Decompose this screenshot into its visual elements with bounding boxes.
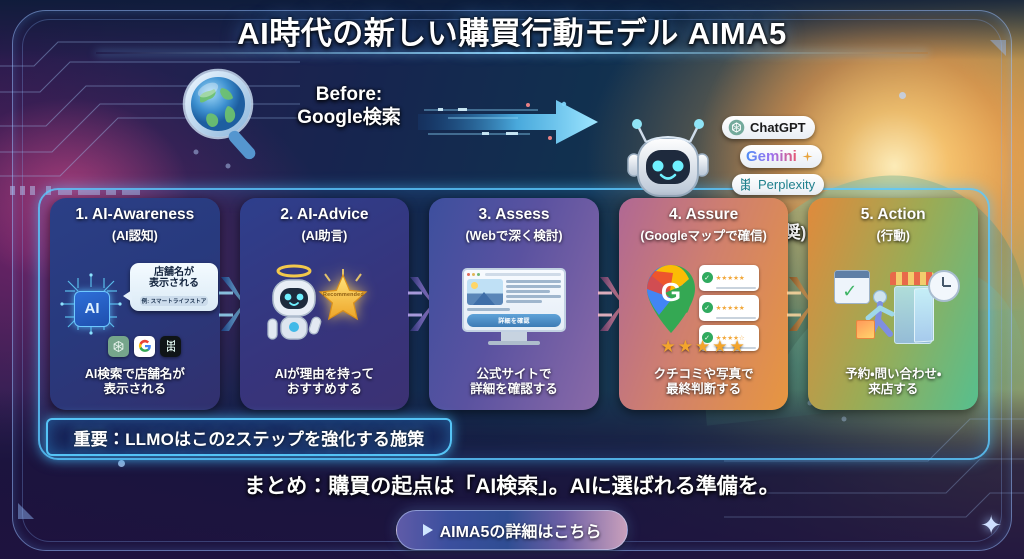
step-3-caption-line1: 公式サイトで bbox=[470, 367, 558, 383]
ai-chip-label: AI bbox=[74, 291, 110, 327]
speech-line-2: 表示される bbox=[133, 278, 215, 290]
arrow-4-to-5 bbox=[788, 198, 808, 410]
footer-section: まとめ：購買の起点は「AI検索」。AIに選ばれる準備を。 AIMA5の詳細はこち… bbox=[0, 470, 1024, 550]
desktop-monitor-icon: 詳細を確認 bbox=[462, 268, 566, 345]
step-5-art: ✓ bbox=[814, 246, 972, 366]
step-3-art: 詳細を確認 bbox=[435, 246, 593, 366]
bubble-chatgpt-label: ChatGPT bbox=[750, 120, 806, 135]
step-card-2[interactable]: 2. AI-Advice (AI助言) bbox=[240, 198, 410, 410]
review-stars: ★★★★★ bbox=[716, 305, 745, 312]
before-label-line2: Google検索 bbox=[284, 106, 414, 129]
step-5-caption-line2: 来店する bbox=[845, 382, 941, 398]
chatgpt-icon bbox=[108, 336, 129, 357]
review-item: ✓ ★★★★★ bbox=[699, 265, 759, 291]
arrow-1-to-2 bbox=[220, 198, 240, 410]
step-3-subtitle: (Webで深く検討) bbox=[466, 225, 563, 244]
step-card-3[interactable]: 3. Assess (Webで深く検討) bbox=[429, 198, 599, 410]
step-4-subtitle: (Googleマップで確信) bbox=[640, 225, 766, 244]
monitor-base bbox=[488, 341, 540, 345]
step-2-caption-line2: おすすめする bbox=[275, 382, 374, 398]
bubble-perplexity: Perplexity bbox=[732, 174, 824, 195]
review-item: ✓ ★★★★★ bbox=[699, 295, 759, 321]
page-title-container: AI時代の新しい購買行動モデル AIMA5 bbox=[0, 8, 1024, 53]
google-icon bbox=[134, 336, 155, 357]
star-recommended-label: Recommended bbox=[317, 292, 369, 298]
cta-button[interactable]: AIMA5の詳細はこちら bbox=[396, 510, 629, 550]
step-1-caption: AI検索で店舗名が 表示される bbox=[85, 367, 185, 404]
arrow-2-to-3 bbox=[409, 198, 429, 410]
step-card-4[interactable]: 4. Assure (Googleマップで確信) G ✓ bbox=[619, 198, 789, 410]
perplexity-icon bbox=[738, 177, 753, 192]
step-1-art: AI 店舗名が 表示される 例: スマートライフストア bbox=[56, 246, 214, 366]
page-title: AI時代の新しい購買行動モデル AIMA5 bbox=[237, 8, 787, 53]
google-maps-pin-icon: G bbox=[643, 263, 699, 335]
page-content bbox=[467, 279, 561, 305]
svg-text:G: G bbox=[660, 277, 680, 307]
speech-line-1: 店舗名が bbox=[133, 267, 215, 279]
step-3-caption: 公式サイトで 詳細を確認する bbox=[470, 367, 558, 404]
browser-chrome-bar bbox=[467, 273, 561, 276]
clock-icon bbox=[928, 270, 960, 302]
before-label: Before: Google検索 bbox=[284, 83, 414, 129]
step-4-art: G ✓ ★★★★★ ✓ ★★★★★ bbox=[625, 246, 783, 366]
highlight-text: 重要：LLMOはこの2ステップを強化する施策 bbox=[73, 425, 424, 450]
cta-button-label: AIMA5の詳細はこちら bbox=[440, 518, 602, 542]
step-3-caption-line2: 詳細を確認する bbox=[470, 382, 558, 398]
step-5-title: 5. Action bbox=[861, 206, 926, 223]
step-5-caption-line1: 予約・問い合わせ・ bbox=[845, 367, 941, 383]
step-1-caption-line1: AI検索で店舗名が bbox=[85, 367, 185, 383]
check-icon: ✓ bbox=[702, 272, 713, 283]
review-stars: ★★★★★ bbox=[716, 275, 745, 282]
step-2-caption-line1: AIが理由を持って bbox=[275, 367, 374, 383]
bubble-gemini: Gemini bbox=[740, 145, 822, 168]
step-1-logo-row bbox=[108, 336, 181, 357]
screen-detail-button[interactable]: 詳細を確認 bbox=[467, 314, 561, 327]
arrow-3-to-4 bbox=[599, 198, 619, 410]
page-text-lines bbox=[506, 279, 561, 305]
check-icon: ✓ bbox=[702, 302, 713, 313]
step-1-caption-line2: 表示される bbox=[85, 382, 185, 398]
summary-text: まとめ：購買の起点は「AI検索」。AIに選ばれる準備を。 bbox=[0, 470, 1024, 500]
bubble-gemini-label: Gemini bbox=[746, 148, 797, 165]
ai-brand-bubbles: ChatGPT Gemini Perplexity bbox=[722, 116, 842, 201]
steps-container: 1. AI-Awareness (AI認知) AI 店舗名が bbox=[50, 198, 978, 410]
step-5-caption: 予約・問い合わせ・ 来店する bbox=[845, 367, 941, 404]
shopping-bag-icon bbox=[856, 320, 875, 339]
step-2-art: Recommended bbox=[246, 246, 404, 366]
play-triangle-icon bbox=[423, 524, 433, 536]
monitor-screen: 詳細を確認 bbox=[462, 268, 566, 332]
step-2-subtitle: (AI助言) bbox=[302, 225, 348, 244]
overall-rating-stars: ★★★★★ bbox=[641, 337, 767, 357]
step-2-caption: AIが理由を持って おすすめする bbox=[275, 367, 374, 404]
bubble-chatgpt: ChatGPT bbox=[722, 116, 815, 139]
gemini-icon bbox=[802, 151, 813, 162]
step-5-subtitle: (行動) bbox=[877, 225, 910, 244]
magnifier-globe-icon bbox=[178, 68, 270, 160]
action-scene: ✓ bbox=[832, 268, 954, 346]
step-4-caption: クチコミや写真で 最終判断する bbox=[654, 367, 754, 404]
step-1-speech-bubble: 店舗名が 表示される 例: スマートライフストア bbox=[130, 263, 218, 311]
infographic-root: AI時代の新しい購買行動モデル AIMA5 bbox=[0, 0, 1024, 559]
step-3-title: 3. Assess bbox=[479, 206, 550, 223]
step-4-caption-line1: クチコミや写真で bbox=[654, 367, 754, 383]
highlight-banner: 重要：LLMOはこの2ステップを強化する施策 bbox=[46, 418, 452, 456]
speech-example: 例: スマートライフストア bbox=[140, 296, 209, 306]
chatgpt-icon bbox=[728, 119, 745, 136]
before-after-section: Before: Google検索 bbox=[0, 58, 1024, 188]
step-4-caption-line2: 最終判断する bbox=[654, 382, 754, 398]
perplexity-icon bbox=[160, 336, 181, 357]
step-card-1[interactable]: 1. AI-Awareness (AI認知) AI 店舗名が bbox=[50, 198, 220, 410]
tech-arrow-icon bbox=[418, 96, 598, 148]
step-2-title: 2. AI-Advice bbox=[280, 206, 368, 223]
before-label-line1: Before: bbox=[284, 83, 414, 106]
step-card-5[interactable]: 5. Action (行動) ✓ bbox=[808, 198, 978, 410]
bubble-perplexity-label: Perplexity bbox=[758, 177, 815, 192]
monitor-stand bbox=[501, 332, 527, 341]
step-1-title: 1. AI-Awareness bbox=[75, 206, 194, 223]
page-thumbnail bbox=[467, 279, 503, 305]
step-4-title: 4. Assure bbox=[669, 206, 738, 223]
frame-node-dot-left bbox=[118, 460, 125, 467]
step-1-subtitle: (AI認知) bbox=[112, 225, 158, 244]
